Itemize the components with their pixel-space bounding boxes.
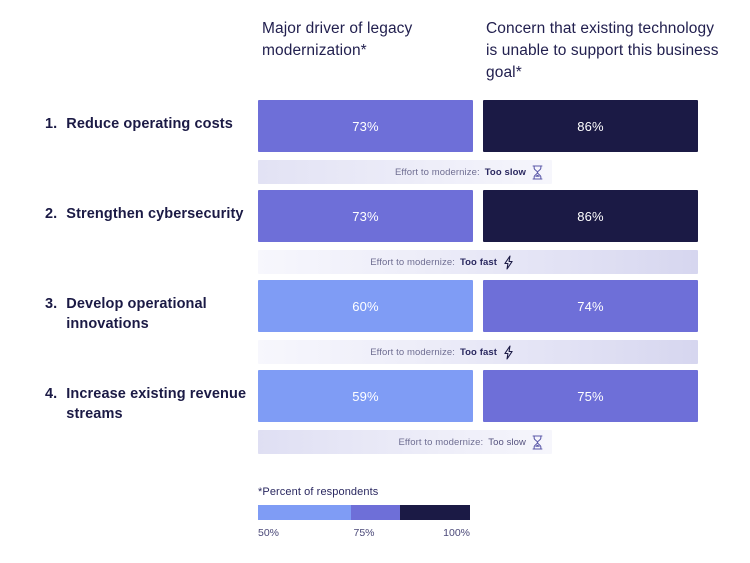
row-number: 4. [45,384,57,424]
row-label: 3. Develop operational innovations [45,294,257,334]
row-number: 3. [45,294,57,334]
driver-bar: 60% [258,280,473,332]
effort-annotation: Effort to modernize: Too fast [370,255,515,270]
row-title: Reduce operating costs [66,114,257,134]
effort-value: Too slow [488,437,526,448]
column-header-driver: Major driver of legacy modernization* [262,18,472,62]
chart-row: 4. Increase existing revenue streams 59%… [0,370,750,460]
row-label: 2. Strengthen cybersecurity [45,204,257,224]
effort-annotation: Effort to modernize: Too fast [370,345,515,360]
legend-swatch-light [258,505,351,520]
effort-annotation: Effort to modernize: Too slow [399,435,545,450]
legend-tick-max: 100% [443,527,470,539]
concern-bar-value: 74% [577,299,604,314]
legend-swatch-mid [351,505,400,520]
driver-bar-value: 73% [352,119,379,134]
legend-title: *Percent of respondents [258,486,470,498]
lightning-bolt-icon [502,255,515,270]
effort-strip: Effort to modernize: Too fast [258,340,698,364]
chart-row: 1. Reduce operating costs 73% 86% Effort… [0,100,750,190]
driver-bar: 73% [258,100,473,152]
effort-prefix: Effort to modernize: [370,257,455,268]
legend-tick-min: 50% [258,527,279,539]
legend-swatch-dark [400,505,470,520]
row-label: 1. Reduce operating costs [45,114,257,134]
column-headers: Major driver of legacy modernization* Co… [0,18,750,90]
legend: *Percent of respondents 50% 75% 100% [258,486,470,543]
column-header-concern: Concern that existing technology is unab… [486,18,721,84]
driver-bar: 73% [258,190,473,242]
driver-bar-value: 59% [352,389,379,404]
infographic-chart: Major driver of legacy modernization* Co… [0,0,750,563]
effort-value: Too fast [460,257,497,268]
row-number: 1. [45,114,57,134]
hourglass-icon [531,165,544,180]
effort-value: Too slow [485,167,526,178]
effort-prefix: Effort to modernize: [395,167,480,178]
legend-color-scale [258,505,470,520]
driver-bar-value: 60% [352,299,379,314]
concern-bar-value: 75% [577,389,604,404]
chart-row: 2. Strengthen cybersecurity 73% 86% Effo… [0,190,750,280]
concern-bar: 86% [483,100,698,152]
effort-prefix: Effort to modernize: [370,347,455,358]
driver-bar: 59% [258,370,473,422]
effort-prefix: Effort to modernize: [399,437,484,448]
concern-bar: 75% [483,370,698,422]
concern-bar-value: 86% [577,209,604,224]
concern-bar: 74% [483,280,698,332]
row-title: Develop operational innovations [66,294,257,334]
concern-bar: 86% [483,190,698,242]
effort-annotation: Effort to modernize: Too slow [395,165,544,180]
hourglass-icon [531,435,544,450]
effort-strip: Effort to modernize: Too slow [258,160,552,184]
effort-strip: Effort to modernize: Too slow [258,430,552,454]
concern-bar-value: 86% [577,119,604,134]
effort-strip: Effort to modernize: Too fast [258,250,698,274]
row-label: 4. Increase existing revenue streams [45,384,257,424]
legend-tick-mid: 75% [353,527,374,539]
driver-bar-value: 73% [352,209,379,224]
chart-row: 3. Develop operational innovations 60% 7… [0,280,750,370]
legend-ticks: 50% 75% 100% [258,527,470,543]
row-number: 2. [45,204,57,224]
row-title: Strengthen cybersecurity [66,204,257,224]
lightning-bolt-icon [502,345,515,360]
effort-value: Too fast [460,347,497,358]
row-title: Increase existing revenue streams [66,384,257,424]
